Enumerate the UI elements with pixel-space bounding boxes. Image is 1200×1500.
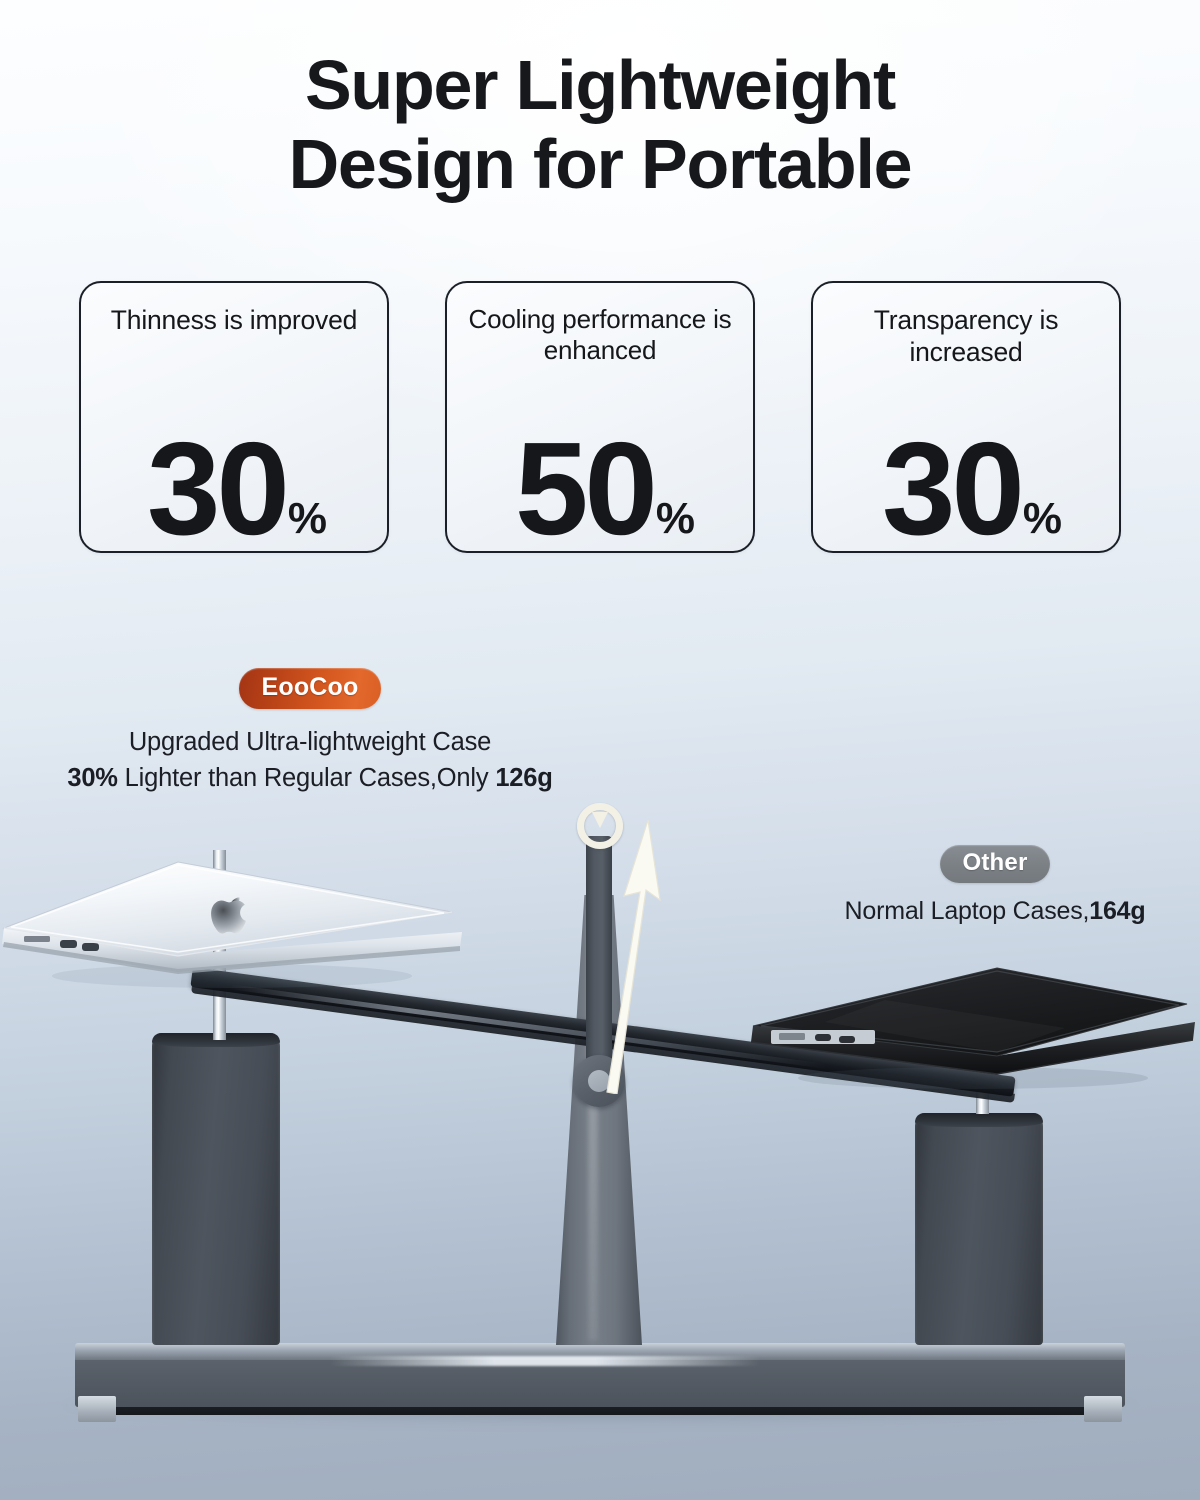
lighter-direction-arrow-icon (600, 818, 662, 1094)
balance-scale-illustration (0, 0, 1200, 1500)
base-foot-left (78, 1396, 116, 1422)
base-gloss-streak (330, 1356, 760, 1366)
laptop-black-other (735, 960, 1200, 1092)
laptop-silver-eoocoo (0, 852, 468, 992)
base-foot-right (1084, 1396, 1122, 1422)
product-feature-graphic: Super Lightweight Design for Portable Th… (0, 0, 1200, 1500)
